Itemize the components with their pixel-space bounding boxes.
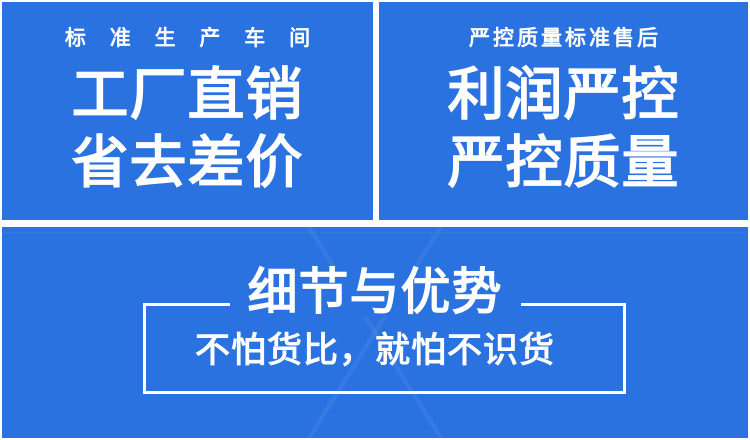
left-panel-headline-line1: 工厂直销 [72,67,304,124]
panel-quality-control-content: 严控质量标准售后 利润严控 严控质量 [379,2,748,220]
left-panel-headline-line2: 省去差价 [72,135,304,192]
banner-subtitle-row: 不怕货比，就怕不识货 [2,333,748,368]
panel-details-and-advantages: 细节与优势 不怕货比，就怕不识货 [2,227,748,438]
promo-banner-stage: 标 准 生 产 车 间 工厂直销 省去差价 严控质量标准售后 利润严控 严控质量… [0,0,750,440]
banner-subtitle: 不怕货比，就怕不识货 [195,333,555,368]
right-panel-eyebrow: 严控质量标准售后 [466,28,661,49]
right-panel-headline-line1: 利润严控 [448,67,680,124]
panel-quality-control: 严控质量标准售后 利润严控 严控质量 [379,2,748,220]
right-panel-headline-line2: 严控质量 [448,135,680,192]
left-panel-eyebrow: 标 准 生 产 车 间 [56,28,319,49]
panel-factory-direct: 标 准 生 产 车 间 工厂直销 省去差价 [2,2,373,220]
panel-factory-direct-content: 标 准 生 产 车 间 工厂直销 省去差价 [2,2,373,220]
